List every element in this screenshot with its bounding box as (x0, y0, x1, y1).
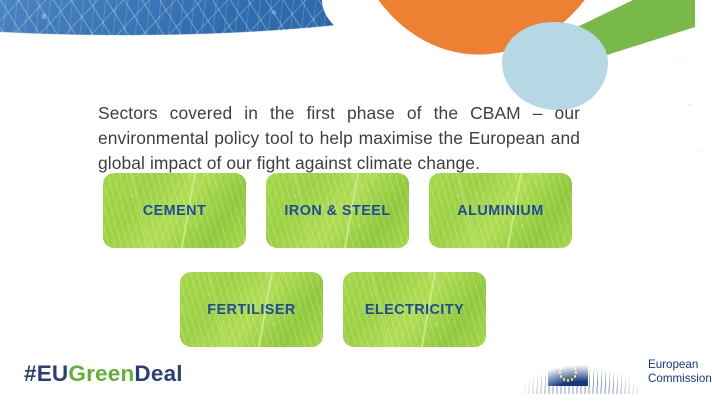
banner-wave-edge (0, 52, 489, 96)
sector-button-electricity[interactable]: ELECTRICITY (343, 272, 486, 347)
sector-button-label: ELECTRICITY (365, 302, 464, 318)
sector-button-label: ALUMINIUM (457, 203, 543, 219)
hashtag-highlight: Green (68, 361, 134, 386)
sector-button-fertiliser[interactable]: FERTILISER (180, 272, 323, 347)
light-blue-circle-shape (502, 22, 608, 110)
european-commission-logo: European Commission (522, 350, 698, 394)
logo-text-line2: Commission (648, 372, 712, 386)
sector-button-aluminium[interactable]: ALUMINIUM (429, 173, 572, 248)
blue-leaf-banner (0, 0, 492, 96)
blue-leaf-texture (0, 0, 484, 88)
logo-flourish-lines (522, 350, 640, 394)
hashtag-suffix: Deal (134, 361, 182, 386)
leaf-skeleton-graphic (578, 0, 712, 312)
sector-button-row-1: CEMENT IRON & STEEL ALUMINIUM (103, 173, 572, 248)
sector-button-label: IRON & STEEL (284, 203, 390, 219)
eu-stars-icon (548, 359, 588, 386)
logo-text-line1: European (648, 358, 712, 372)
sector-button-label: FERTILISER (207, 302, 295, 318)
eu-green-deal-hashtag: #EUGreenDeal (24, 361, 183, 387)
sector-button-label: CEMENT (143, 203, 206, 219)
orange-blob-shape (346, 0, 625, 63)
logo-text: European Commission (648, 358, 712, 385)
sector-button-iron-and-steel[interactable]: IRON & STEEL (266, 173, 409, 248)
sector-button-row-2: FERTILISER ELECTRICITY (180, 272, 486, 347)
banner-notch (322, 0, 442, 58)
sector-button-cement[interactable]: CEMENT (103, 173, 246, 248)
eu-flag-icon (548, 359, 588, 386)
page-title: Sectors covered in the first phase of th… (98, 101, 580, 176)
hashtag-prefix: #EU (24, 361, 68, 386)
slide-canvas: Sectors covered in the first phase of th… (0, 0, 712, 401)
green-wedge-shape (505, 0, 695, 62)
